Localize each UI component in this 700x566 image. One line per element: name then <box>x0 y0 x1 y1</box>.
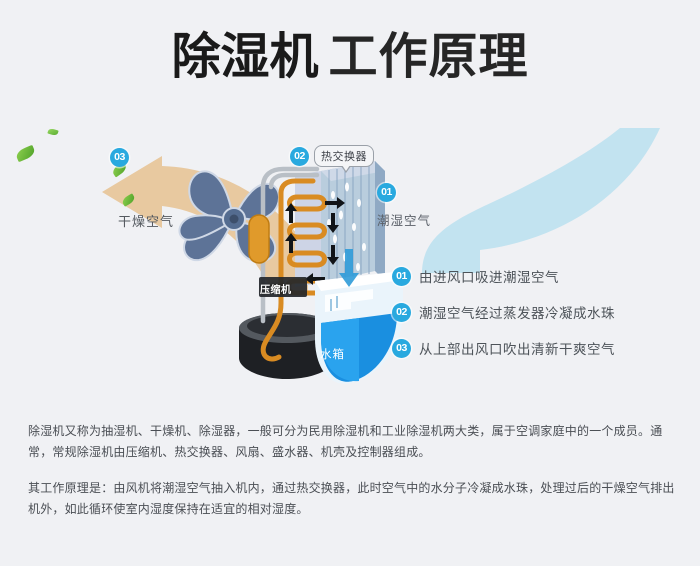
heat-exchanger-label: 热交换器 <box>314 145 374 167</box>
list-item: 02 潮湿空气经过蒸发器冷凝成水珠 <box>392 294 692 330</box>
title-part-2: 工作原理 <box>329 28 529 85</box>
leaf-icon <box>47 128 58 137</box>
body-copy: 除湿机又称为抽湿机、干燥机、除湿器，一般可分为民用除湿机和工业除湿机两大类，属于… <box>28 421 676 520</box>
step-text: 由进风口吸进潮湿空气 <box>419 266 559 286</box>
water-tank-label: 水箱 <box>320 346 345 362</box>
badge-01: 01 <box>392 267 411 286</box>
page-root: 除湿机工作原理 <box>0 0 700 566</box>
step-list: 01 由进风口吸进潮湿空气 02 潮湿空气经过蒸发器冷凝成水珠 03 从上部出风… <box>392 258 692 366</box>
paragraph-1: 除湿机又称为抽湿机、干燥机、除湿器，一般可分为民用除湿机和工业除湿机两大类，属于… <box>28 421 676 463</box>
humid-air-label: 潮湿空气 <box>377 210 431 229</box>
compressor-label: 压缩机 <box>260 281 292 296</box>
heat-exchanger-callout: 02 热交换器 <box>290 145 374 167</box>
step-text: 潮湿空气经过蒸发器冷凝成水珠 <box>419 302 615 322</box>
page-title: 除湿机工作原理 <box>0 32 700 81</box>
badge-03: 03 <box>392 339 411 358</box>
dry-air-badge: 03 <box>110 145 129 167</box>
step-text: 从上部出风口吹出清新干爽空气 <box>419 338 615 358</box>
paragraph-2: 其工作原理是：由风机将潮湿空气抽入机内，通过热交换器，此时空气中的水分子冷凝成水… <box>28 478 676 520</box>
leaf-icon <box>15 145 37 162</box>
humid-air-badge: 01 <box>377 180 396 202</box>
list-item: 01 由进风口吸进潮湿空气 <box>392 258 692 294</box>
list-item: 03 从上部出风口吹出清新干爽空气 <box>392 330 692 366</box>
dry-air-label: 干燥空气 <box>118 211 174 230</box>
badge-03: 03 <box>110 148 129 167</box>
title-part-1: 除湿机 <box>171 28 318 85</box>
badge-01: 01 <box>377 183 396 202</box>
badge-02: 02 <box>392 303 411 322</box>
badge-02: 02 <box>290 147 309 166</box>
compressor-unit <box>249 215 269 263</box>
